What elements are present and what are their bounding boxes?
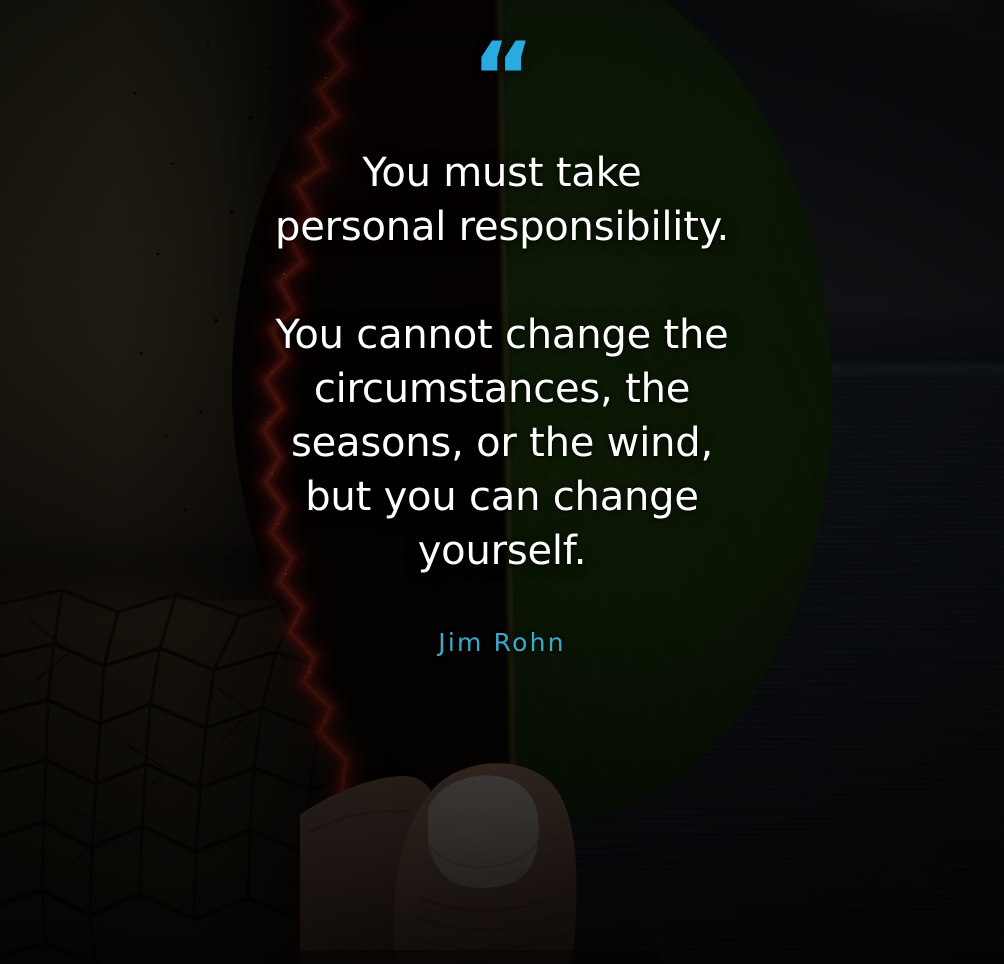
quote-paragraph-1: You must take personal responsibility.	[190, 146, 814, 254]
quotation-mark-icon: “	[190, 44, 814, 120]
quote-line: but you can change	[305, 474, 699, 520]
quote-author: Jim Rohn	[190, 628, 814, 657]
quote-line: circumstances, the	[314, 366, 690, 412]
quote-text: You must take personal responsibility. Y…	[190, 146, 814, 578]
quote-paragraph-2: You cannot change the circumstances, the…	[190, 308, 814, 578]
quote-line: You cannot change the	[275, 312, 728, 358]
quote-line: personal responsibility.	[275, 204, 729, 250]
quote-line: You must take	[362, 150, 641, 196]
quote-line: yourself.	[418, 528, 587, 574]
quote-card: “ You must take personal responsibility.…	[0, 0, 1004, 964]
quote-content: “ You must take personal responsibility.…	[0, 0, 1004, 657]
quote-line: seasons, or the wind,	[291, 420, 713, 466]
